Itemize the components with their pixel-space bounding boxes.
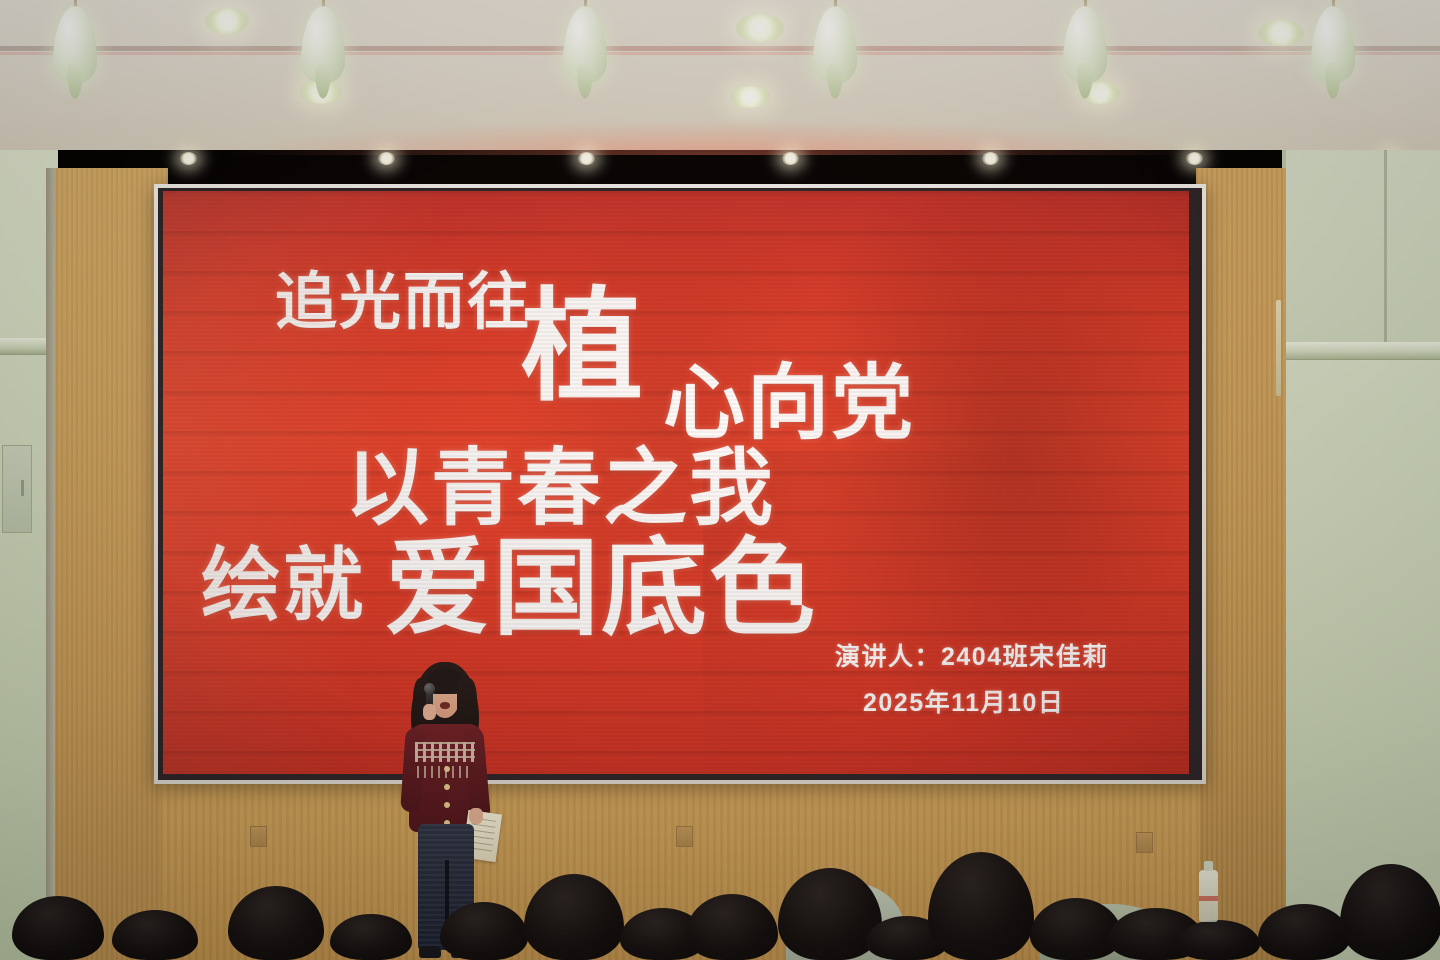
ceiling-red-glow	[0, 95, 1440, 155]
pendant-bulb	[1063, 6, 1107, 84]
audience-head	[330, 914, 412, 960]
audience-head	[440, 902, 528, 960]
audience-head	[112, 910, 198, 960]
water-bottle	[1199, 870, 1218, 922]
audience-head	[1340, 864, 1440, 960]
ceiling-spotlight	[1258, 20, 1304, 46]
jacket-pattern-band	[415, 742, 475, 762]
recessed-downlight	[982, 152, 999, 165]
right-wall-seam	[1384, 150, 1387, 346]
auditorium-scene: 追光而往， 植 心向党 以青春之我 绘就 爱国底色 演讲人：2404班宋佳莉 2…	[0, 0, 1440, 960]
speaker-hand-left	[423, 704, 436, 720]
audience-head	[1176, 920, 1260, 960]
right-wall-upper-panel	[1282, 150, 1440, 346]
left-wall-control-box	[2, 445, 32, 533]
led-screen[interactable]: 追光而往， 植 心向党 以青春之我 绘就 爱国底色 演讲人：2404班宋佳莉 2…	[163, 191, 1189, 774]
audience-head	[1258, 904, 1350, 960]
ceiling	[0, 0, 1440, 150]
ceiling-spotlight	[736, 14, 784, 42]
audience-head	[524, 874, 624, 960]
recessed-downlight	[180, 152, 197, 165]
pendant-bulb	[301, 6, 345, 84]
right-wall-ledge	[1282, 342, 1440, 360]
screen-vignette	[163, 191, 1189, 774]
audience-head	[928, 852, 1034, 960]
pendant-bulb	[1311, 6, 1355, 84]
ceiling-rail	[0, 46, 1440, 51]
audience-row	[0, 800, 1440, 960]
audience-head	[12, 896, 104, 960]
recessed-downlight	[578, 152, 595, 165]
recessed-downlight	[1186, 152, 1203, 165]
pendant-bulb	[563, 6, 607, 84]
pendant-bulb	[53, 6, 97, 84]
ceiling-spotlight	[205, 8, 249, 34]
recessed-downlight	[782, 152, 799, 165]
speaker-mouth	[440, 702, 450, 709]
audience-head	[228, 886, 324, 960]
pendant-bulb	[813, 6, 857, 84]
recessed-downlight	[378, 152, 395, 165]
audience-head	[686, 894, 778, 960]
door-handle[interactable]	[1276, 300, 1281, 396]
ceiling-rail-secondary	[0, 52, 1440, 55]
